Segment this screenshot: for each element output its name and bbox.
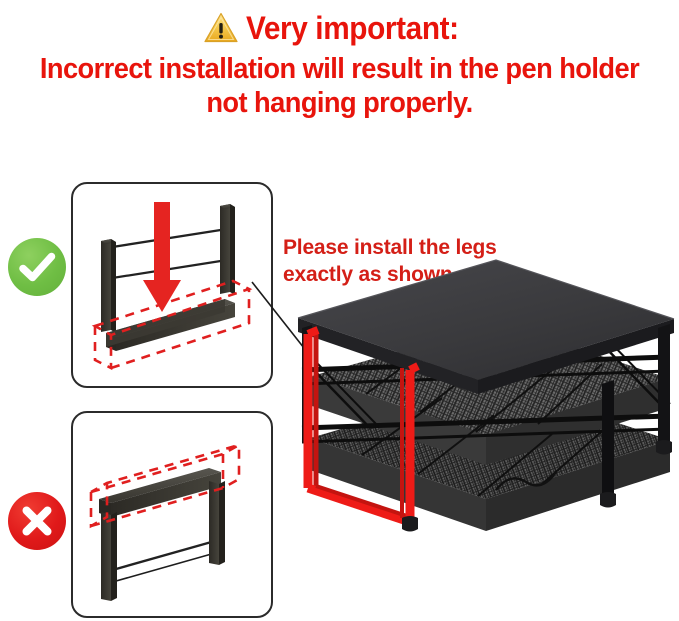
check-mark-glyph [8, 238, 66, 296]
check-circle-icon [8, 238, 66, 296]
down-arrow-icon [143, 202, 181, 312]
x-circle-icon [8, 492, 66, 550]
foot [656, 440, 672, 455]
monitor-stand-illustration [250, 252, 679, 552]
warning-heading: Very important: Incorrect installation w… [0, 0, 679, 120]
foot [600, 492, 616, 508]
right-post [209, 481, 225, 565]
warning-body-line-1: Incorrect installation will result in th… [28, 52, 651, 86]
monitor-stand-product-image [250, 252, 679, 552]
incorrect-leg-orientation-diagram [71, 411, 273, 618]
incorrect-leg-frame-illustration [73, 413, 271, 616]
leader-line [252, 282, 304, 348]
warning-body-text: Incorrect installation will result in th… [20, 52, 658, 120]
left-post [101, 512, 117, 601]
correct-leg-orientation-diagram [71, 182, 273, 388]
page-title: Very important: [246, 12, 459, 44]
warning-triangle-icon [204, 12, 238, 44]
warning-body-line-2: not hanging properly. [28, 86, 651, 120]
heading-title-row: Very important: [0, 0, 679, 52]
x-mark-glyph [8, 492, 66, 550]
bottom-crossbar [106, 299, 235, 351]
foot [402, 516, 418, 532]
correct-leg-frame-illustration [73, 184, 271, 386]
